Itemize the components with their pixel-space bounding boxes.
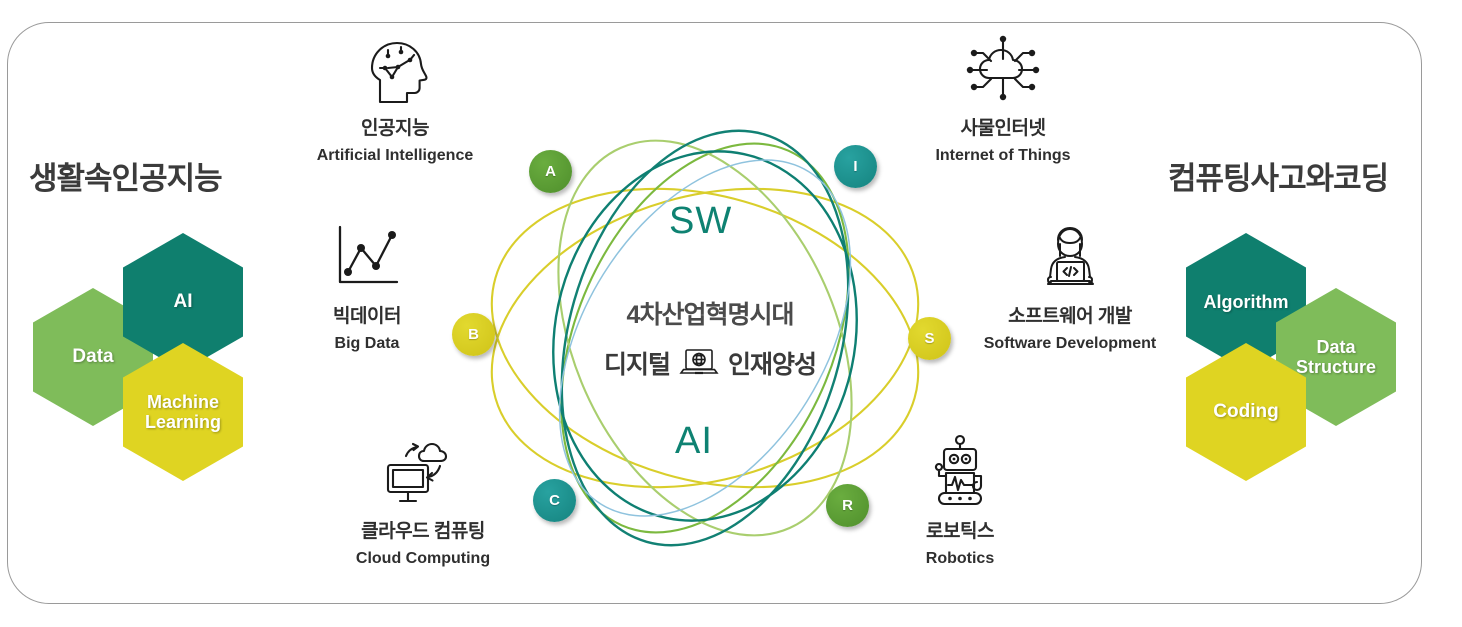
topic-robot-korean: 로보틱스 <box>845 516 1075 543</box>
badge-i-label: I <box>853 158 857 175</box>
topic-iot-korean: 사물인터넷 <box>888 113 1118 140</box>
topic-cloud-korean: 클라우드 컴퓨팅 <box>308 516 538 543</box>
center-line2-right: 인재양성 <box>728 345 816 381</box>
hex-ds-line2: Structure <box>1296 357 1376 377</box>
hex-ds-line1: Data <box>1316 337 1355 357</box>
hex-data-label: Data <box>72 346 113 367</box>
robot-icon <box>845 433 1075 509</box>
badge-a[interactable]: A <box>529 150 572 193</box>
topic-ai-english: Artificial Intelligence <box>280 147 510 165</box>
topic-artificial-intelligence[interactable]: 인공지능 Artificial Intelligence <box>280 30 510 165</box>
topic-big-data[interactable]: 빅데이터 Big Data <box>252 218 482 353</box>
badge-s-label: S <box>924 330 934 347</box>
badge-s[interactable]: S <box>908 317 951 360</box>
topic-robotics[interactable]: 로보틱스 Robotics <box>845 433 1075 568</box>
topic-ai-korean: 인공지능 <box>280 113 510 140</box>
topic-swdev-english: Software Development <box>955 335 1185 353</box>
laptop-globe-icon <box>679 348 719 378</box>
topic-cloud-computing[interactable]: 클라우드 컴퓨팅 Cloud Computing <box>308 433 538 568</box>
hex-algorithm-label: Algorithm <box>1204 292 1289 312</box>
topic-bigdata-english: Big Data <box>252 335 482 353</box>
topic-swdev-korean: 소프트웨어 개발 <box>955 301 1185 328</box>
developer-laptop-icon <box>955 218 1185 294</box>
badge-c[interactable]: C <box>533 479 576 522</box>
line-chart-icon <box>252 218 482 294</box>
brain-head-icon <box>280 30 510 106</box>
center-headline-line2: 디지털 인재양성 <box>545 345 875 381</box>
hex-coding-label: Coding <box>1213 401 1278 422</box>
topic-cloud-english: Cloud Computing <box>308 550 538 568</box>
hex-data-structure-label: Data Structure <box>1296 337 1376 377</box>
hex-machine-learning-label: Machine Learning <box>145 392 221 432</box>
topic-bigdata-korean: 빅데이터 <box>252 301 482 328</box>
topic-software-development[interactable]: 소프트웨어 개발 Software Development <box>955 218 1185 353</box>
monitor-cloud-sync-icon <box>308 433 538 509</box>
left-section-title: 생활속인공지능 <box>29 153 222 198</box>
hex-ml-line2: Learning <box>145 412 221 432</box>
topic-internet-of-things[interactable]: 사물인터넷 Internet of Things <box>888 30 1118 165</box>
center-line2-left: 디지털 <box>604 345 670 381</box>
center-label-ai: AI <box>675 420 713 463</box>
center-headline-line1: 4차산업혁명시대 <box>560 295 860 331</box>
badge-c-label: C <box>549 492 560 509</box>
badge-i[interactable]: I <box>834 145 877 188</box>
topic-iot-english: Internet of Things <box>888 147 1118 165</box>
hex-ml-line1: Machine <box>147 392 219 412</box>
topic-robot-english: Robotics <box>845 550 1075 568</box>
center-label-sw: SW <box>669 200 732 243</box>
right-section-title: 컴퓨팅사고와코딩 <box>1168 153 1388 198</box>
hex-ai-label: AI <box>174 291 193 312</box>
infographic-canvas: 생활속인공지능 컴퓨팅사고와코딩 Data AI Machine Learnin… <box>0 0 1462 627</box>
badge-a-label: A <box>545 163 556 180</box>
cloud-network-icon <box>888 30 1118 106</box>
